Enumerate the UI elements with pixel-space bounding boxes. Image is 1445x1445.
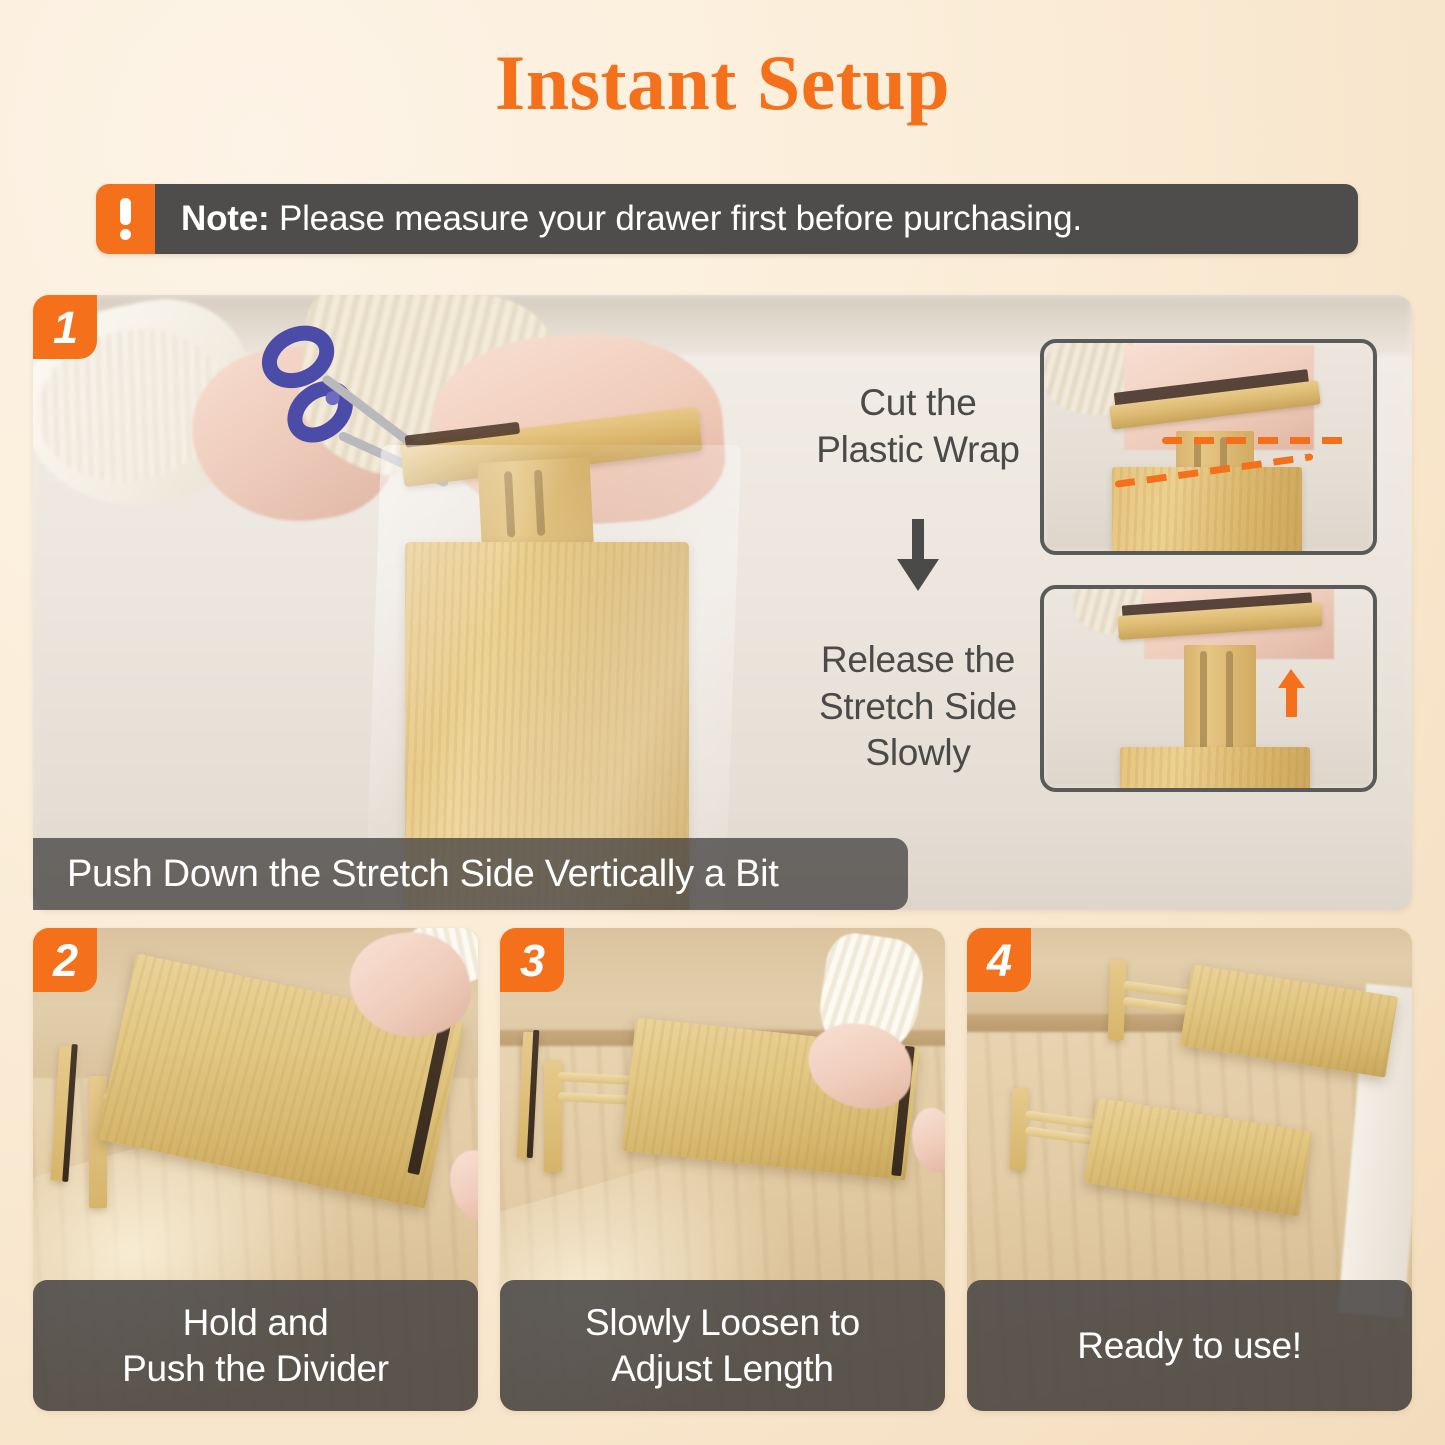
instruction-line-2: Plastic Wrap	[778, 427, 1058, 474]
steps-row: 2 Hold and Push the Divider 3	[33, 928, 1412, 1411]
page-title: Instant Setup	[0, 44, 1445, 122]
note-message: Please measure your drawer first before …	[269, 199, 1082, 238]
step-1-caption: Push Down the Stretch Side Vertically a …	[33, 838, 908, 910]
step-3-caption-line-1: Slowly Loosen to	[585, 1300, 860, 1346]
step-number-badge-3: 3	[500, 928, 564, 992]
thumb2-body-panel	[1120, 747, 1310, 792]
down-arrow-icon	[778, 519, 1058, 593]
step-2-panel: 2 Hold and Push the Divider	[33, 928, 478, 1411]
step-number-1: 1	[53, 305, 77, 350]
note-label: Note:	[181, 199, 269, 238]
step-1-caption-text: Push Down the Stretch Side Vertically a …	[67, 853, 779, 896]
step-2-caption-line-1: Hold and	[183, 1300, 329, 1346]
step-1-panel: Cut the Plastic Wrap Release the Stretch…	[33, 295, 1412, 910]
step-2-caption: Hold and Push the Divider	[33, 1280, 478, 1411]
orange-up-arrow-icon	[1276, 669, 1306, 717]
step-4-caption: Ready to use!	[967, 1280, 1412, 1411]
step-number-4: 4	[987, 938, 1011, 983]
step-3-caption-line-2: Adjust Length	[611, 1346, 833, 1392]
thumbnail-release-up	[1040, 585, 1377, 792]
thumbnail-cut-line	[1040, 339, 1377, 555]
exclamation-icon	[96, 184, 155, 254]
step-number-2: 2	[53, 938, 77, 983]
step-2-caption-line-2: Push the Divider	[122, 1346, 389, 1392]
step-4-caption-line-1: Ready to use!	[1077, 1323, 1301, 1369]
step-number-3: 3	[520, 938, 544, 983]
note-text: Note: Please measure your drawer first b…	[181, 199, 1082, 239]
instruction-line-3: Release the	[778, 637, 1058, 684]
step-number-badge-2: 2	[33, 928, 97, 992]
instruction-line-4: Stretch Side	[778, 684, 1058, 731]
step-number-badge-1: 1	[33, 295, 97, 359]
note-banner: Note: Please measure your drawer first b…	[96, 184, 1358, 254]
step-3-panel: 3 Slowly Loosen to Adjust Length	[500, 928, 945, 1411]
panel-1-instruction-text: Cut the Plastic Wrap Release the Stretch…	[778, 380, 1058, 777]
cut-dashed-line-2	[1162, 437, 1352, 444]
note-banner-body: Note: Please measure your drawer first b…	[155, 184, 1358, 254]
panel-1-photo-scene	[33, 295, 793, 910]
step-3-caption: Slowly Loosen to Adjust Length	[500, 1280, 945, 1411]
step-number-badge-4: 4	[967, 928, 1031, 992]
scissors-icon	[245, 313, 472, 521]
instruction-line-1: Cut the	[778, 380, 1058, 427]
instruction-line-5: Slowly	[778, 730, 1058, 777]
step-4-panel: 4 Ready to use!	[967, 928, 1412, 1411]
